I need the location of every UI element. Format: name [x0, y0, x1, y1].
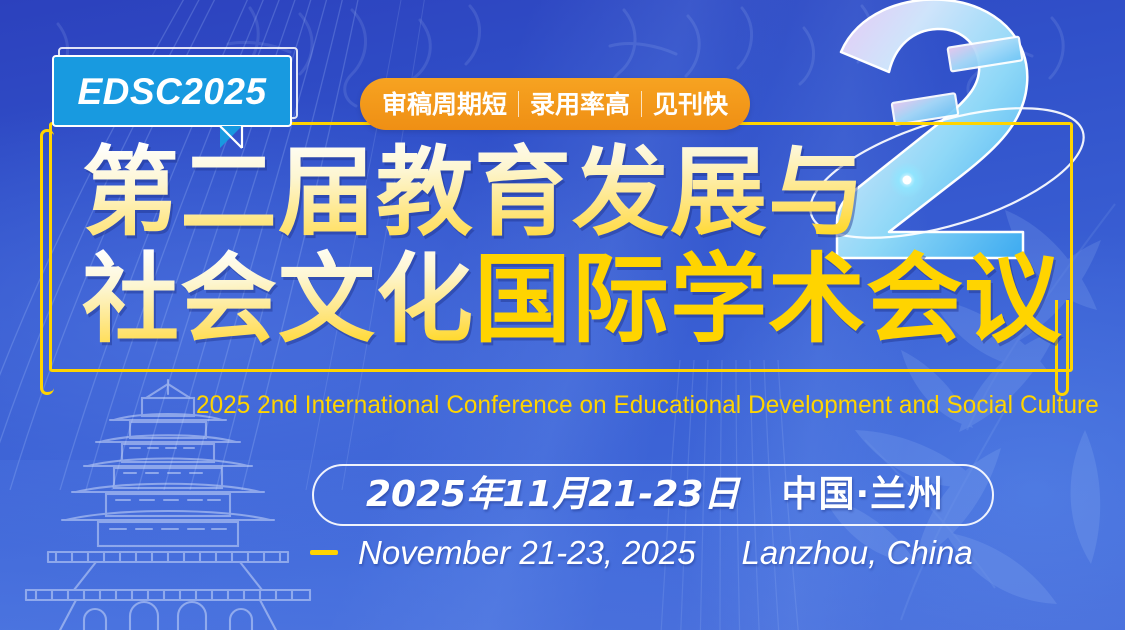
badge-body: EDSC2025: [52, 55, 292, 127]
pill-item-review-cycle: 审稿周期短: [382, 92, 507, 117]
conference-acronym-badge: EDSC2025: [52, 55, 292, 127]
title-line-1-text: 第二届教育发展与: [82, 136, 866, 249]
yellow-dash-icon: [310, 550, 338, 555]
pill-separator-2: [641, 91, 642, 117]
date-location-box: 2025年11月21-23日 中国·兰州: [312, 464, 994, 526]
conference-title: 第二届教育发展与 社会文化国际学术会议: [82, 140, 1062, 353]
title-line-2-gradient-text: 社会文化: [82, 243, 474, 356]
date-chinese: 2025年11月21-23日: [366, 477, 739, 513]
title-line-1: 第二届教育发展与: [82, 140, 1062, 247]
date-location-english-row: November 21-23, 2025 Lanzhou, China: [310, 536, 973, 569]
selling-points-pill: 审稿周期短 录用率高 见刊快: [360, 78, 750, 130]
pill-item-fast-publication: 见刊快: [653, 92, 728, 117]
conference-banner: EDSC2025 审稿周期短 录用率高 见刊快 第二届教育发展与 社会文化国际学…: [0, 0, 1125, 630]
title-frame-left-bracket: [40, 129, 54, 395]
pill-separator-1: [518, 91, 519, 117]
location-chinese: 中国·兰州: [781, 477, 944, 513]
conference-subtitle-english: 2025 2nd International Conference on Edu…: [196, 391, 1099, 420]
date-english: November 21-23, 2025: [358, 536, 696, 569]
badge-label: EDSC2025: [77, 73, 266, 110]
location-english: Lanzhou, China: [742, 536, 973, 569]
title-line-2: 社会文化国际学术会议: [82, 247, 1062, 354]
pill-item-acceptance-rate: 录用率高: [530, 92, 630, 117]
title-line-2-solid-text: 国际学术会议: [474, 243, 1062, 356]
